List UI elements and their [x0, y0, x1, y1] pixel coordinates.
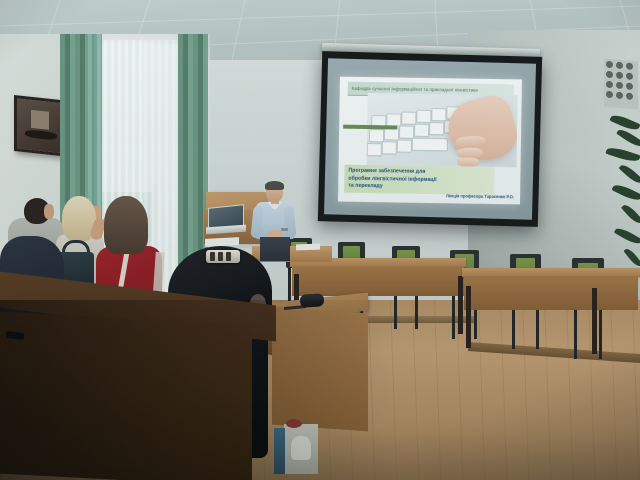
- hand-typing: [442, 93, 517, 167]
- projection-screen: Кафедра сучасної інформаційної та прикла…: [318, 51, 542, 227]
- slide-accent-bar: [343, 125, 397, 130]
- desk-row-back: [290, 258, 466, 288]
- audience-member-face: [44, 204, 54, 219]
- hair-clip: [206, 250, 240, 263]
- audience-member-red-hair: [104, 196, 148, 254]
- lattice-vent-icon: [604, 59, 638, 110]
- floor-shadow: [0, 300, 640, 480]
- screen-surface: Кафедра сучасної інформаційної та прикла…: [324, 58, 536, 219]
- slide-photo-keyboard: [367, 93, 518, 167]
- presenter-hair: [265, 181, 284, 190]
- presentation-slide: Кафедра сучасної інформаційної та прикла…: [338, 77, 522, 205]
- slide-title: Програмне забезпечення для обробки лінгв…: [344, 165, 494, 196]
- presenter-watch: [281, 228, 288, 231]
- desk-row-back-2: [462, 268, 640, 302]
- presenter-arm-right: [283, 206, 296, 239]
- paper-sheet: [296, 244, 320, 251]
- slide-title-line-3: та перекладу: [348, 183, 490, 193]
- presenter: [252, 182, 298, 254]
- slide-author: Лекція професора Тарасенко Р.О.: [446, 193, 514, 199]
- slide-title-band: Програмне забезпечення для обробки лінгв…: [344, 165, 494, 195]
- lecture-room-photo: Кафедра сучасної інформаційної та прикла…: [0, 0, 640, 480]
- slide-header-text: Кафедра сучасної інформаційної та прикла…: [348, 82, 514, 94]
